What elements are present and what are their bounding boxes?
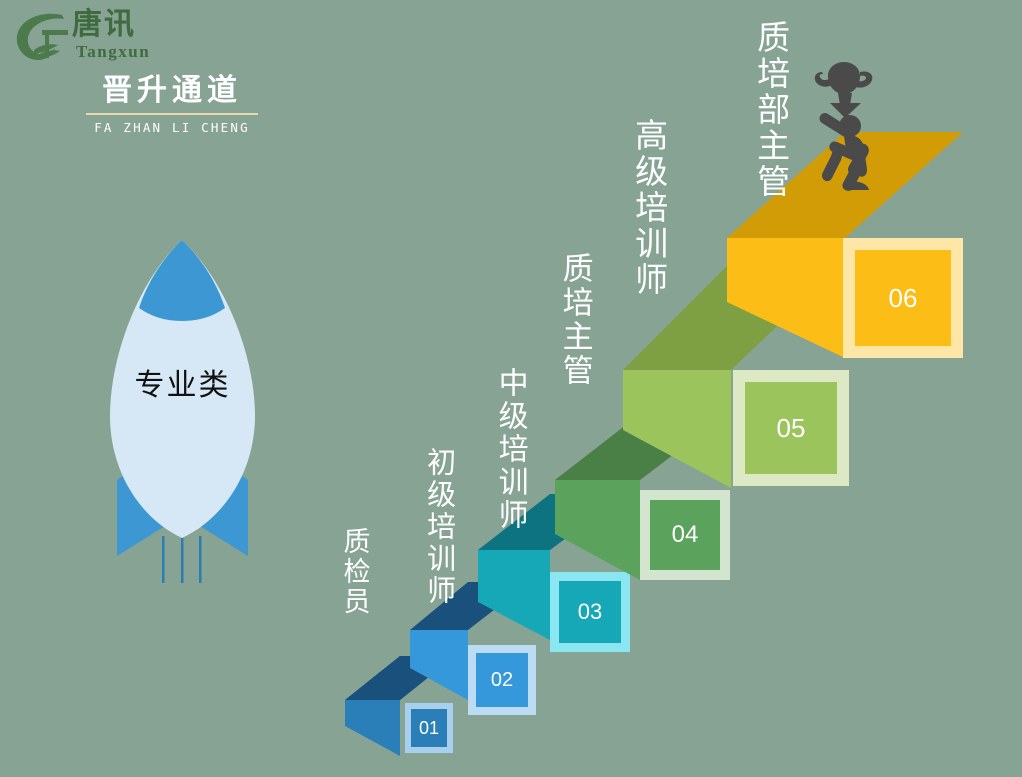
step-03-badge[interactable]: 03: [550, 572, 630, 652]
step-04-label: 质培主管: [558, 252, 590, 388]
step-01-number: 01: [411, 709, 447, 747]
slide-canvas: 唐讯 Tangxun 晋升通道 FA ZHAN LI CHENG 专业类: [0, 0, 1022, 777]
step-01-label: 质检员: [340, 527, 368, 617]
step-06-number: 06: [855, 250, 951, 346]
step-05-number: 05: [745, 382, 837, 474]
step-05-badge[interactable]: 05: [733, 370, 849, 486]
step-03-label: 中级培训师: [494, 367, 525, 532]
step-06-label: 质培部主管: [754, 20, 788, 200]
step-02-number: 02: [476, 653, 528, 707]
step-02-label: 初级培训师: [424, 447, 454, 607]
step-04-badge[interactable]: 04: [640, 490, 730, 580]
step-06-badge[interactable]: 06: [843, 238, 963, 358]
step-03-number: 03: [559, 581, 621, 643]
step-05-label: 高级培训师: [632, 118, 666, 298]
step-02-badge[interactable]: 02: [468, 645, 536, 715]
step-04-number: 04: [650, 500, 720, 570]
runner-with-trophy-icon: [808, 56, 908, 191]
step-01-badge[interactable]: 01: [405, 703, 453, 753]
